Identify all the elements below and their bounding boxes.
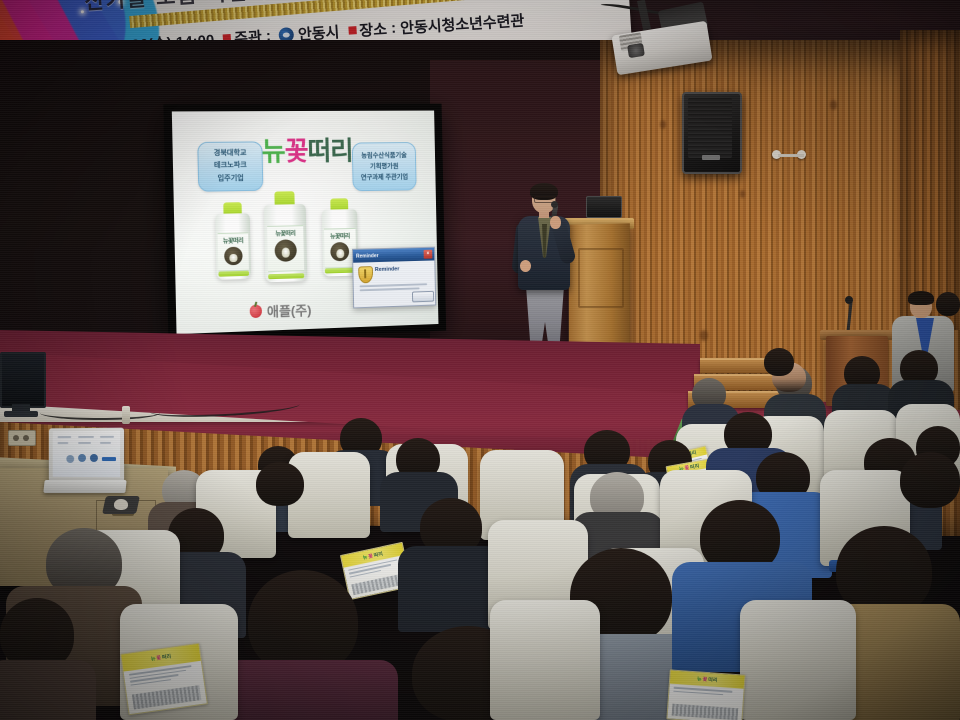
slide-title-part-3: 떠리 (307, 130, 353, 167)
laptop-keyboard-base[interactable] (43, 480, 126, 493)
banner-colon-3: : (386, 19, 400, 37)
attendee-body (212, 660, 398, 720)
seat[interactable] (740, 600, 856, 720)
slide-right-callout: 농림수산식품기술 기획평가원 연구과제 주관기업 (352, 142, 417, 191)
stage-step (700, 358, 774, 373)
slide-right-line-2: 기획평가원 (370, 162, 399, 172)
brochure[interactable]: 뉴꽃떠리 (666, 669, 745, 720)
stage-monitor (0, 352, 44, 420)
computer-mouse[interactable] (114, 499, 128, 510)
slide-left-line-1: 경북대학교 (214, 149, 247, 160)
stage-cable (40, 406, 160, 420)
laptop-screen-icon (66, 455, 74, 463)
banner-place-label: 장소 (359, 18, 388, 41)
slide-left-line-3: 입주기업 (218, 173, 244, 184)
slide-company-name: 애플(주) (267, 299, 312, 320)
podium-front-panel (578, 248, 624, 308)
laptop-screen[interactable] (53, 431, 120, 478)
seat[interactable] (490, 600, 600, 720)
attendee-head (256, 462, 304, 506)
presenter-right-hand (550, 216, 561, 229)
presenter-left-hand (520, 260, 531, 272)
attendee-head (764, 348, 794, 376)
slide-right-line-3: 연구과제 주관기업 (361, 173, 408, 183)
microphone-head-icon (845, 296, 853, 304)
projector-lens-icon (627, 43, 645, 58)
bottle-label-text: 뉴꽃떠리 (223, 236, 244, 246)
floor-mic-stand (122, 406, 130, 424)
dialog-heading: Reminder (375, 266, 400, 273)
bottle-label-text: 뉴꽃떠리 (275, 228, 295, 237)
attendee-head (248, 570, 358, 674)
product-bottle: 뉴꽃떠리 (263, 191, 307, 282)
laptop-screen-icon (90, 454, 98, 462)
banner-place-value: 안동시청소년수련관 (400, 9, 525, 38)
attendee-head (936, 292, 960, 316)
slide-right-line-1: 농림수산식품기술 (361, 151, 407, 161)
speaker-grille (688, 98, 732, 158)
apple-logo-icon (250, 304, 262, 318)
microphone-head-icon (551, 201, 558, 208)
projection-screen: 경북대학교 테크노파크 입주기업 농림수산식품기술 기획평가원 연구과제 주관기… (172, 111, 439, 335)
slide-title-part-2: 꽃 (284, 130, 308, 167)
shield-icon (358, 266, 373, 283)
presenter-trousers (526, 286, 564, 348)
dialog-titlebar: Reminder × (353, 248, 434, 263)
wall-hook-bar (778, 154, 804, 157)
product-bottle: 뉴꽃떠리 (215, 202, 251, 280)
laptop-screen-icon (78, 454, 86, 462)
power-outlet[interactable] (8, 430, 36, 446)
projection-screen-frame: 경북대학교 테크노파크 입주기업 농림수산식품기술 기획평가원 연구과제 주관기… (163, 104, 446, 342)
brochure[interactable]: 뉴꽃떠리 (120, 643, 208, 716)
slide-title-part-1: 뉴 (261, 131, 285, 168)
wood-slat-wall-right (900, 30, 960, 330)
speaker-badge (702, 155, 720, 160)
dialog-title-text: Reminder (356, 253, 379, 260)
close-icon[interactable]: × (424, 250, 433, 259)
dialog-ok-button[interactable] (412, 291, 434, 303)
photo-canvas: 신기술 보급 시범사업 교육 일시 : 2014. 3. 26(수) 14:00… (0, 0, 960, 720)
attendee-body (0, 660, 96, 720)
slide-product-title: 뉴 꽃 떠리 (254, 133, 360, 166)
attendee-head (836, 526, 932, 616)
presenter (512, 186, 582, 364)
banner-place-segment: 장소 : 안동시청소년수련관 (348, 9, 525, 41)
monitor-base (4, 411, 38, 417)
bullet-square-icon (348, 26, 356, 34)
monitor-screen (0, 352, 46, 408)
slide-left-line-2: 테크노파크 (214, 161, 247, 172)
stage-wall-monitor (586, 196, 622, 218)
attendee-head (900, 452, 960, 508)
bottle-label-text: 뉴꽃떠리 (330, 231, 350, 240)
attendee-hair (908, 291, 934, 305)
